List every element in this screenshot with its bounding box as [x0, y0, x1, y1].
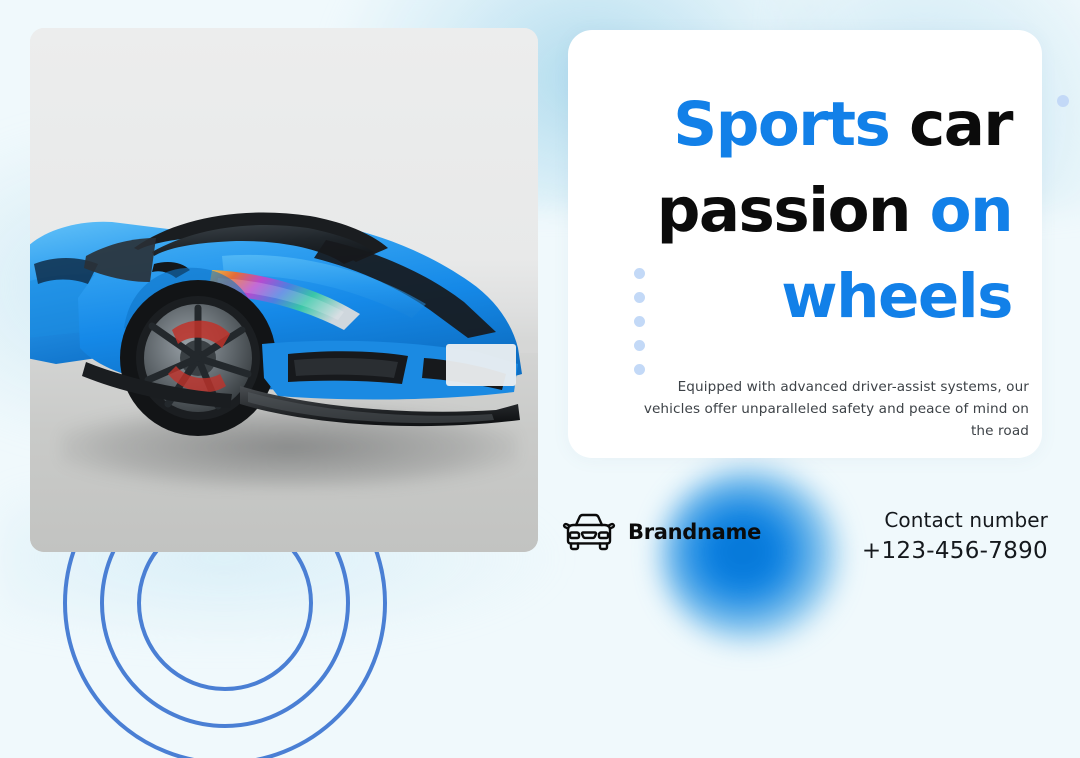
- contact-block: Contact number +123-456-7890: [862, 505, 1048, 567]
- headline-word-car: car: [889, 89, 1012, 160]
- decorative-dot: [634, 268, 645, 279]
- contact-number[interactable]: +123-456-7890: [862, 535, 1048, 567]
- brand-logo[interactable]: Brandname: [562, 513, 761, 551]
- sports-car-illustration: [30, 178, 538, 508]
- page-title: Sports car passion on wheels: [596, 82, 1012, 340]
- headline-line-1: Sports car: [596, 82, 1012, 168]
- decorative-dot: [634, 340, 645, 351]
- hero-image-card: [30, 28, 538, 552]
- decorative-blue-blob: [660, 468, 840, 643]
- decorative-dot-right: [1057, 95, 1069, 107]
- hero-description: Equipped with advanced driver-assist sys…: [625, 376, 1029, 442]
- decorative-dot: [634, 292, 645, 303]
- headline-accent-on: on: [930, 175, 1012, 246]
- decorative-dot: [634, 364, 645, 375]
- headline-line-2: passion on: [596, 168, 1012, 254]
- decorative-dot-column: [634, 268, 645, 375]
- headline-word-passion: passion: [657, 175, 930, 246]
- car-front-icon: [562, 513, 616, 551]
- contact-label: Contact number: [862, 505, 1048, 535]
- headline-line-3: wheels: [596, 254, 1012, 340]
- headline-accent-wheels: wheels: [781, 261, 1012, 332]
- headline-accent-sports: Sports: [673, 89, 889, 160]
- brand-name: Brandname: [628, 520, 761, 544]
- decorative-dot: [634, 316, 645, 327]
